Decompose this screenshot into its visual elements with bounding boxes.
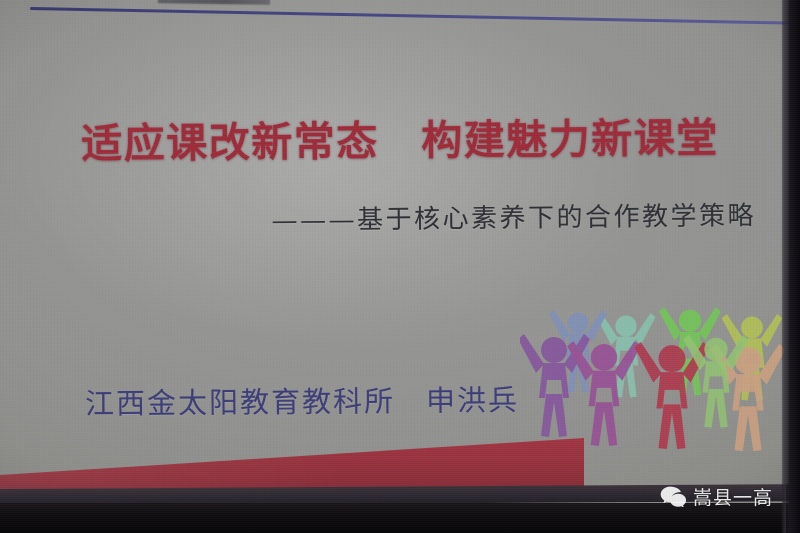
slide-title: 适应课改新常态 构建魅力新课堂 — [0, 103, 800, 171]
slide-subtitle: ———基于核心素养下的合作教学策略 — [0, 195, 782, 240]
screenshot-root: 适应课改新常态 构建魅力新课堂 ———基于核心素养下的合作教学策略 江西金太阳教… — [0, 0, 800, 533]
wechat-watermark-label: 嵩县一高 — [693, 483, 773, 510]
wechat-watermark: 嵩县一高 — [660, 483, 773, 510]
projected-slide: 适应课改新常态 构建魅力新课堂 ———基于核心素养下的合作教学策略 江西金太阳教… — [0, 0, 800, 533]
screen-right-border-inner — [781, 0, 786, 533]
presenter-line: 江西金太阳教育教科所 申洪兵 — [85, 377, 519, 423]
figure-purple — [520, 334, 590, 437]
clipped-header-remnant — [158, 0, 270, 5]
top-divider-rule — [30, 7, 792, 25]
wechat-icon — [660, 486, 686, 507]
